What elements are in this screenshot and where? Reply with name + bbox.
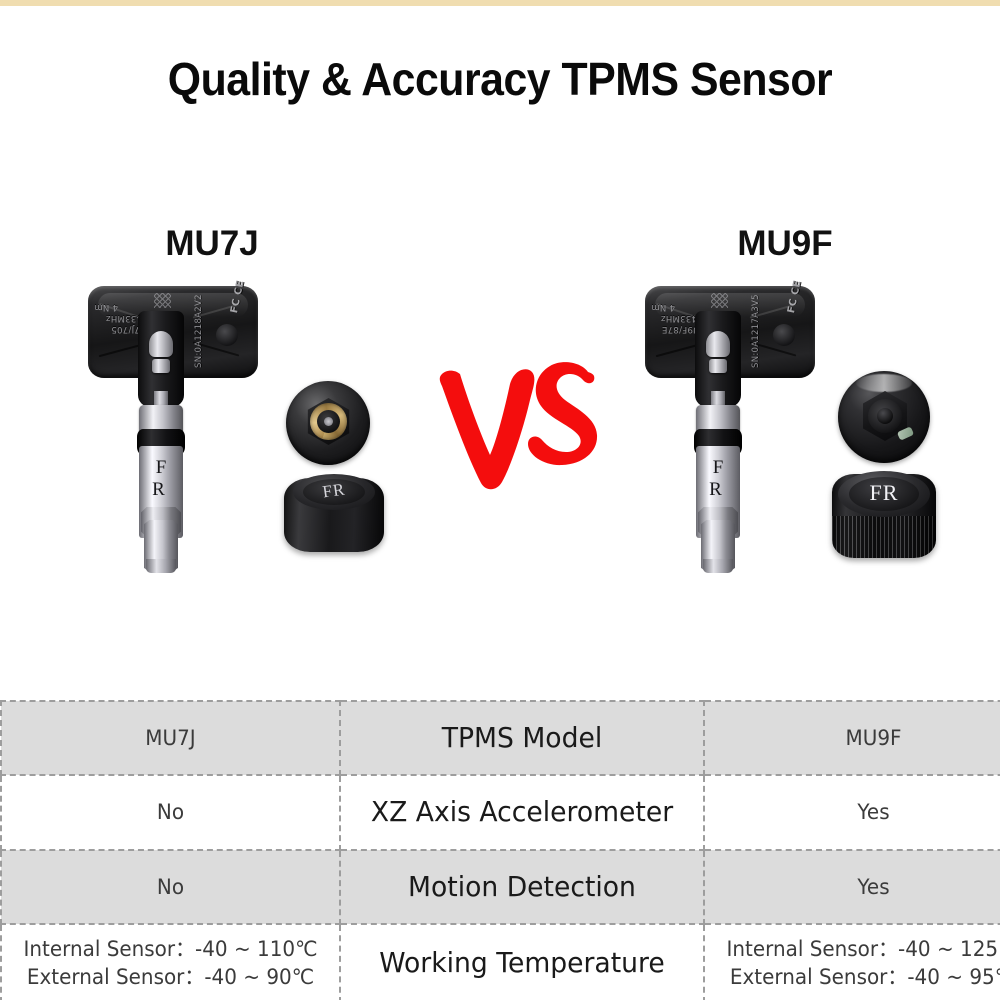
table-row: No XZ Axis Accelerometer Yes (1, 775, 1000, 850)
cell-text: MU9F (719, 724, 1000, 752)
clamp-screw-small (709, 359, 727, 373)
external-cap-mu9f-side: FR (832, 474, 936, 562)
cap-knurled-grip (832, 516, 936, 558)
cap-gloss-highlight (856, 374, 912, 392)
cell-text: No (16, 873, 325, 901)
sensor-certification-marks: FC CE (786, 279, 804, 314)
cell-feature-model: TPMS Model (340, 701, 704, 775)
valve-stem-tip (146, 559, 176, 573)
clamp-screw (149, 331, 173, 357)
external-sensor-temp: External Sensor：-40 ~ 90℃ (16, 963, 325, 991)
cell-right-model: MU9F (704, 701, 1000, 775)
cell-text: Working Temperature (356, 945, 689, 981)
internal-sensor-temp: Internal Sensor：-40 ~ 125℃ (719, 935, 1000, 963)
housing-xmark-icon (711, 293, 728, 308)
cell-left-accelerometer: No (1, 775, 340, 850)
valve-stem-tip (703, 559, 733, 573)
cell-feature-motion: Motion Detection (340, 850, 704, 924)
cell-text: MU7J (16, 724, 325, 752)
vs-brush-svg (438, 352, 608, 492)
top-accent-band (0, 0, 1000, 6)
cell-right-motion: Yes (704, 850, 1000, 924)
housing-xmark-icon (154, 293, 171, 308)
sensor-frequency: 433MHz (106, 313, 142, 323)
cap-valve-core (877, 408, 893, 424)
cell-feature-accelerometer: XZ Axis Accelerometer (340, 775, 704, 850)
sensor-serial: SN:0A1217A3V5 (751, 294, 761, 368)
external-cap-mu7j-top (286, 381, 370, 465)
cell-text: Motion Detection (356, 869, 689, 905)
sensor-serial: SN:0A1218A2V2 (194, 294, 204, 368)
sensor-image-mu7j: MU7J/705 433MHz 4 Nm SN:0A1218A2V2 FC CE… (88, 283, 288, 573)
cell-left-motion: No (1, 850, 340, 924)
cell-text: XZ Axis Accelerometer (356, 794, 689, 830)
housing-rib (193, 303, 240, 318)
cell-feature-temperature: Working Temperature (340, 924, 704, 1000)
cell-left-model: MU7J (1, 701, 340, 775)
clamp-screw (706, 331, 730, 357)
cell-right-accelerometer: Yes (704, 775, 1000, 850)
cap-valve-core (324, 417, 333, 426)
internal-sensor-temp: Internal Sensor：-40 ~ 110℃ (16, 935, 325, 963)
clamp-screw-small (152, 359, 170, 373)
table-row: No Motion Detection Yes (1, 850, 1000, 924)
sensor-image-mu9f: MU9F/87E 433MHz 4 Nm SN:0A1217A3V5 FC CE… (645, 283, 845, 573)
cell-text: Yes (719, 873, 1000, 901)
sensor-torque: 4 Nm (651, 302, 675, 312)
table-row: MU7J TPMS Model MU9F (1, 701, 1000, 775)
external-cap-mu9f-top (838, 371, 930, 463)
cell-right-temperature: Internal Sensor：-40 ~ 125℃ External Sens… (704, 924, 1000, 1000)
housing-port (216, 324, 238, 346)
model-heading-left: MU7J (62, 224, 362, 264)
page-title: Quality & Accuracy TPMS Sensor (35, 52, 965, 106)
cell-text: No (16, 798, 325, 826)
cap-face-marking: FR (849, 480, 919, 506)
cell-temperature-right: Internal Sensor：-40 ~ 125℃ External Sens… (719, 935, 1000, 992)
model-heading-right: MU9F (635, 224, 935, 264)
housing-rib (750, 303, 797, 318)
cell-text: Yes (719, 798, 1000, 826)
sensor-frequency: 433MHz (661, 313, 697, 323)
cell-temperature-left: Internal Sensor：-40 ~ 110℃ External Sens… (16, 935, 325, 992)
vs-marker (438, 352, 608, 492)
sensor-torque: 4 Nm (94, 302, 118, 312)
product-comparison-page: Quality & Accuracy TPMS Sensor MU7J MU9F… (0, 0, 1000, 1000)
spec-comparison-table: MU7J TPMS Model MU9F No XZ Axis Accelero… (0, 700, 1000, 1000)
valve-stem-marking: F R (139, 457, 183, 501)
sensor-certification-marks: FC CE (229, 279, 247, 314)
valve-stem-marking: F R (696, 457, 740, 501)
table-row: Internal Sensor：-40 ~ 110℃ External Sens… (1, 924, 1000, 1000)
external-sensor-temp: External Sensor：-40 ~ 95℃ (719, 963, 1000, 991)
external-cap-mu7j-side: FR (284, 478, 384, 556)
cell-left-temperature: Internal Sensor：-40 ~ 110℃ External Sens… (1, 924, 340, 1000)
housing-port (773, 324, 795, 346)
cell-text: TPMS Model (356, 720, 689, 756)
